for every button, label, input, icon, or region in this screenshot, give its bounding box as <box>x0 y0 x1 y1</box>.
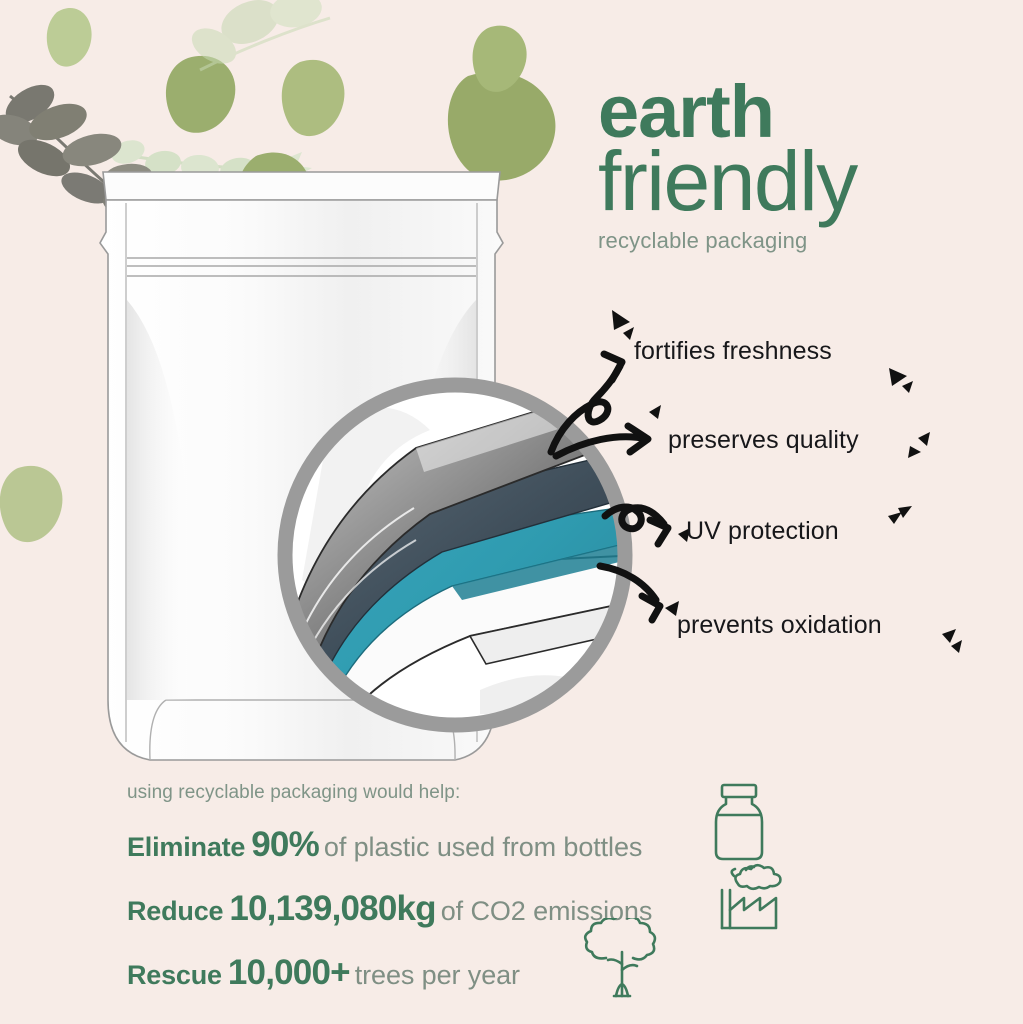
stat-verb: Rescue <box>127 960 222 990</box>
feature-label-preserves-quality: preserves quality <box>668 426 859 455</box>
curve-arrow-down-icon <box>600 566 660 620</box>
headline-block: earth friendly recyclable packaging <box>598 78 1018 254</box>
factory-icon <box>716 862 782 932</box>
tree-icon <box>576 918 668 1000</box>
feature-label-prevents-oxidation: prevents oxidation <box>677 611 882 640</box>
stat-verb: Eliminate <box>127 832 245 862</box>
infographic-canvas: earth friendly recyclable packaging fort… <box>0 0 1023 1024</box>
feature-label-fortifies-freshness: fortifies freshness <box>634 337 832 366</box>
stat-rest: trees per year <box>355 960 520 990</box>
feature-label-uv-protection: UV protection <box>686 517 839 546</box>
stat-row-reduce: Reduce10,139,080kgof CO2 emissions <box>127 891 767 926</box>
stat-verb: Reduce <box>127 896 223 926</box>
stats-block: using recyclable packaging would help: E… <box>127 782 767 990</box>
stats-intro: using recyclable packaging would help: <box>127 782 767 804</box>
headline-subtitle: recyclable packaging <box>598 228 1018 254</box>
stat-row-eliminate: Eliminate90%of plastic used from bottles <box>127 827 767 862</box>
bottle-icon <box>708 782 770 864</box>
stat-value: 10,139,080kg <box>229 889 435 928</box>
headline-line-2: friendly <box>598 142 1018 222</box>
stat-value: 10,000+ <box>228 953 350 992</box>
stat-rest: of plastic used from bottles <box>324 832 642 862</box>
loop-arrow-icon <box>605 507 668 544</box>
stat-row-rescue: Rescue10,000+trees per year <box>127 955 767 990</box>
stat-value: 90% <box>251 825 319 864</box>
curve-arrow-icon <box>556 426 648 456</box>
